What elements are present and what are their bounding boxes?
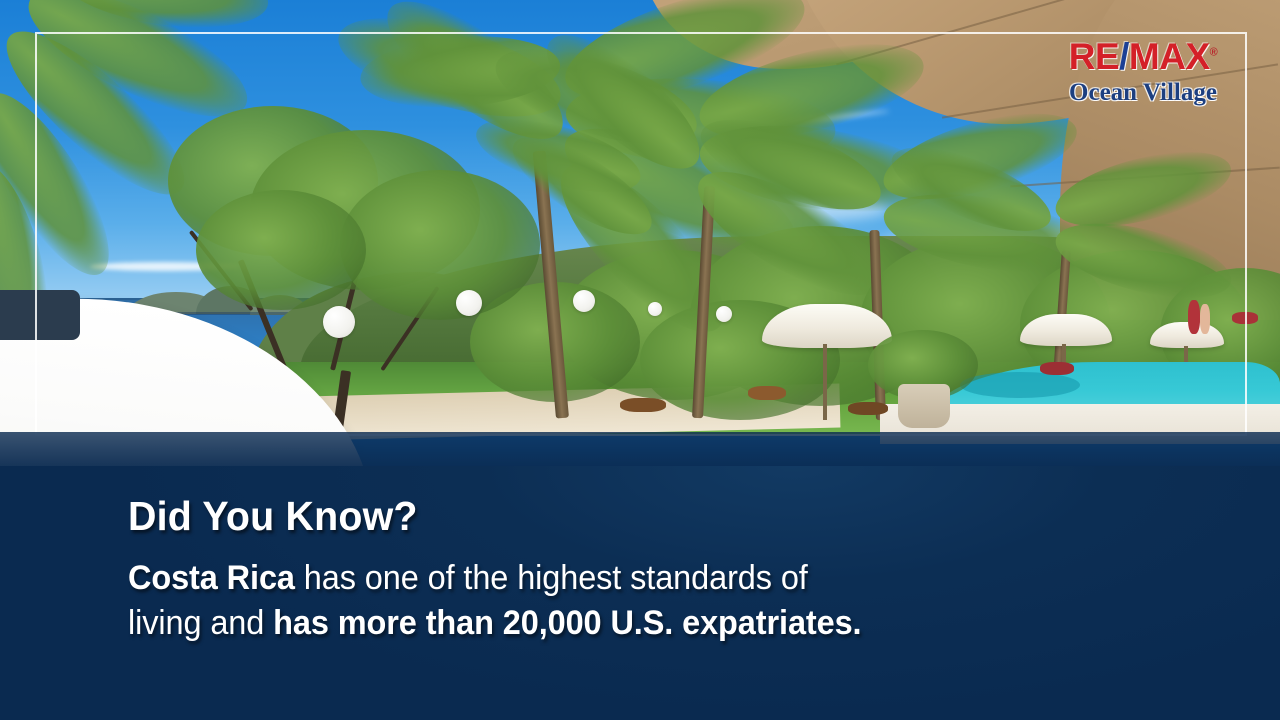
umbrella-pole bbox=[823, 344, 827, 420]
remax-slash: / bbox=[1119, 36, 1129, 77]
lounger bbox=[1040, 362, 1074, 375]
remax-re: RE bbox=[1069, 36, 1119, 77]
person bbox=[1188, 300, 1200, 334]
paper-lantern bbox=[456, 290, 482, 316]
slide-canvas: RE/MAX® Ocean Village Did You Know? Cost… bbox=[0, 0, 1280, 720]
dark-foreground-object bbox=[0, 290, 80, 340]
tree-canopy bbox=[196, 190, 366, 310]
lounger bbox=[1232, 312, 1258, 324]
beach-umbrella bbox=[1150, 322, 1224, 348]
page-title: Did You Know? bbox=[128, 496, 1098, 537]
caption-line-2-rest: living and bbox=[128, 604, 273, 642]
hero-photo: RE/MAX® Ocean Village bbox=[0, 0, 1280, 466]
remax-max: MAX bbox=[1129, 36, 1210, 77]
caption-panel: Did You Know? Costa Rica has one of the … bbox=[0, 466, 1280, 720]
registered-trademark-icon: ® bbox=[1210, 47, 1218, 59]
planter-pot bbox=[898, 384, 950, 428]
person bbox=[1200, 304, 1210, 334]
caption-body: Costa Rica has one of the highest standa… bbox=[128, 556, 1093, 645]
expat-statistic: has more than 20,000 U.S. expatriates. bbox=[273, 604, 861, 642]
paper-lantern bbox=[323, 306, 355, 338]
tree-canopy bbox=[340, 170, 540, 320]
office-name: Ocean Village bbox=[1040, 80, 1246, 105]
lounger bbox=[620, 398, 666, 412]
paper-lantern bbox=[716, 306, 732, 322]
country-name: Costa Rica bbox=[128, 559, 295, 597]
caption-copy: Did You Know? Costa Rica has one of the … bbox=[128, 496, 1138, 645]
caption-line-1-rest: has one of the highest standards of bbox=[295, 559, 808, 597]
lounger bbox=[748, 386, 786, 400]
paper-lantern bbox=[573, 290, 595, 312]
caption-line-1: Costa Rica has one of the highest standa… bbox=[128, 556, 1093, 601]
lounger bbox=[848, 402, 888, 415]
remax-wordmark: RE/MAX® bbox=[1040, 38, 1246, 75]
caption-line-2: living and has more than 20,000 U.S. exp… bbox=[128, 601, 1093, 646]
pool-shade bbox=[960, 372, 1080, 398]
remax-logo: RE/MAX® Ocean Village bbox=[1040, 38, 1246, 105]
paper-lantern bbox=[648, 302, 662, 316]
